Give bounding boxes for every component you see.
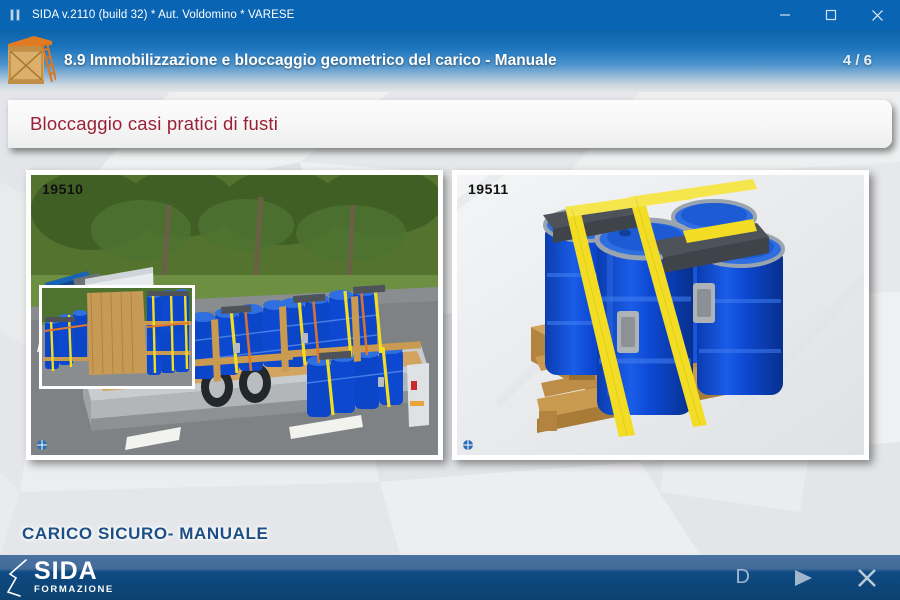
slide-caption: CARICO SICURO- MANUALE [22,524,268,544]
sida-logo: SIDA FORMAZIONE [6,558,114,598]
documents-icon [10,8,24,22]
image-label: 19510 [42,181,83,197]
wooden-crate-icon [4,30,56,88]
media-icon[interactable] [461,439,475,452]
image-label: 19511 [468,181,509,197]
pallet-drums-render [457,175,864,455]
slide-stage: Bloccaggio casi pratici di fusti [0,92,900,555]
slide-subtitle: Bloccaggio casi pratici di fusti [30,113,278,135]
media-icon[interactable] [35,439,49,452]
image-panel-19511[interactable]: 19511 [452,170,869,460]
slide-subtitle-panel: Bloccaggio casi pratici di fusti [8,100,892,148]
minimize-icon[interactable] [762,0,808,30]
play-icon[interactable] [792,568,814,588]
bottom-toolbar: SIDA FORMAZIONE D [0,555,900,600]
image-panel-19510[interactable]: 19510 [26,170,443,460]
lesson-header: 8.9 Immobilizzazione e bloccaggio geomet… [0,30,900,92]
dictionary-button[interactable]: D [736,566,750,589]
truck-load-render [31,175,438,455]
close-icon[interactable] [856,567,878,589]
window-titlebar: SIDA v.2110 (build 32) * Aut. Voldomino … [0,0,900,30]
maximize-icon[interactable] [808,0,854,30]
navigation-controls: D [736,566,878,589]
close-icon[interactable] [854,0,900,30]
window-title: SIDA v.2110 (build 32) * Aut. Voldomino … [32,9,294,21]
page-title: 8.9 Immobilizzazione e bloccaggio geomet… [64,52,557,70]
logo-name: SIDA [34,560,114,583]
window-controls [762,0,900,30]
logo-tagline: FORMAZIONE [34,584,114,595]
page-counter: 4 / 6 [843,52,872,69]
swoosh-icon [6,558,32,598]
